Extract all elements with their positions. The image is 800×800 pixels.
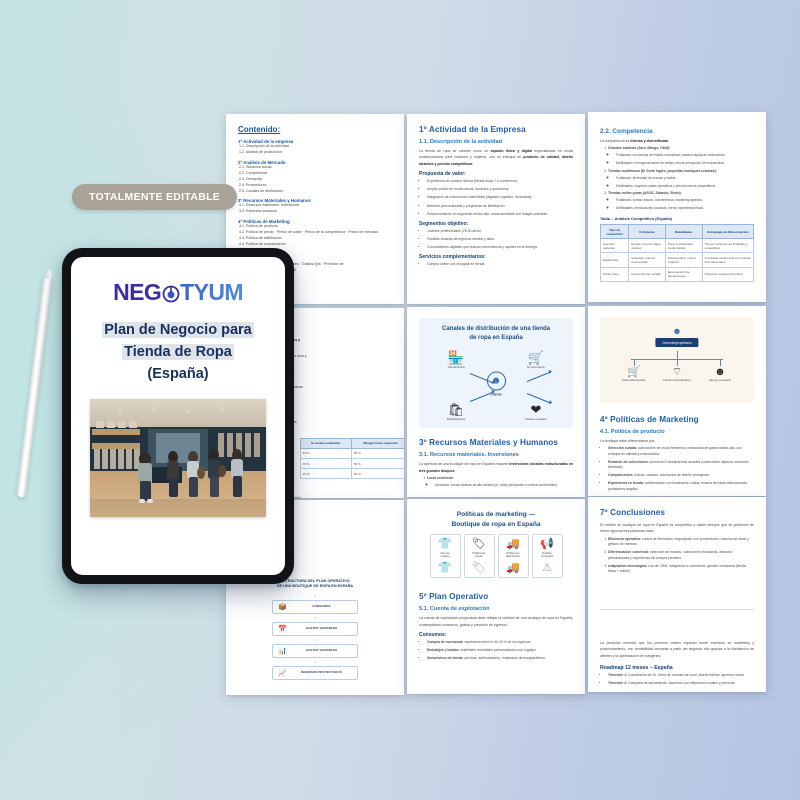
- infographic-title: Canales de distribución de una tiendade …: [424, 325, 568, 342]
- infographic-title: Políticas de marketing —Boutique de ropa…: [419, 510, 573, 529]
- table-cell: 55 %: [351, 459, 404, 469]
- org-node-visual-merchandiser: ⌔ Visual merchandiser: [654, 360, 700, 383]
- lead-paragraph: El modelo de boutique de ropa en España …: [600, 522, 754, 535]
- heart-social-icon: ❤: [516, 403, 556, 416]
- list-item: Tiendas online puras (ASOS, Zalando, She…: [608, 191, 754, 211]
- column-header: Estrategia de diferenciación: [702, 225, 753, 239]
- price-tag-icon: 🏷: [466, 538, 493, 551]
- subsection-heading: Segmentos objetivo:: [419, 221, 573, 227]
- table-cell: Multimarca: [601, 253, 629, 267]
- tablet-device-mockup[interactable]: NEG TYUM Plan de Negocio para Tienda de …: [62, 248, 294, 584]
- warning-icon: ⚠: [534, 562, 561, 575]
- column-header: Tipo de competidor: [601, 225, 629, 239]
- megaphone-icon: 📢: [534, 538, 561, 551]
- cover-photo: [90, 399, 266, 517]
- flow-step-gastos-variables-2: 📊 GASTOS VARIABLES: [272, 644, 358, 658]
- truck-icon: 🚚: [500, 538, 527, 551]
- list-item: Trimestre 2: Campaña de lanzamiento, acu…: [608, 681, 754, 686]
- page-actividad-empresa[interactable]: 1º Actividad de la Empresa 1.1. Descripc…: [407, 114, 585, 304]
- list-item: Fortalezas: diversidad de marcas y estil…: [616, 176, 754, 181]
- channel-node-marketplaces: 🛍 Marketplaces: [436, 403, 476, 422]
- tshirt-icon: 👕: [432, 538, 459, 551]
- arrow-down-icon: ↓: [238, 594, 392, 599]
- section-heading: 3.1. Recursos materiales. Inversiones: [419, 452, 573, 458]
- toc-item: 2.5. Canales de distribución: [238, 189, 392, 195]
- list-item: Amplio surtido en moda casual, business …: [427, 187, 573, 192]
- table-header-row: % ventas estimadas Margen bruto esperado: [300, 438, 404, 448]
- competitor-groups: Grandes cadenas (Zara, Mango, H&M): Fort…: [608, 146, 754, 211]
- list-item: Familias urbanas de ingresos medios y al…: [427, 237, 573, 242]
- table-cell: Poca exclusividad, moda rápida: [665, 239, 702, 253]
- list-item: Embalajes y bolsas: materiales reciclabl…: [427, 648, 573, 653]
- toc-item: 1.2. Análisis de producción: [238, 150, 392, 156]
- channel-node-tienda-fisica: 🏪 Tienda física: [436, 351, 476, 370]
- logo-text-primary: NEG: [113, 281, 161, 304]
- subsection-heading: Consumos:: [419, 632, 573, 638]
- shopping-cart-icon: 🛒: [611, 366, 657, 378]
- person-icon: ☻: [697, 366, 743, 378]
- toc-section-4: 4º Políticas de Marketing 4.1. Política …: [238, 219, 392, 248]
- toc-item: 3.2. Recursos humanos: [238, 209, 392, 215]
- table-header-row: Tipo de competidor Fortalezas Debilidade…: [601, 225, 754, 239]
- lead-paragraph: La boutique debe diferenciarse por:: [600, 438, 754, 444]
- shopping-bag-icon: 🛍: [436, 403, 476, 416]
- arrow-down-icon: ↓: [238, 616, 392, 621]
- column-header: % ventas estimadas: [300, 438, 351, 448]
- margins-table: % ventas estimadas Margen bruto esperado…: [300, 438, 404, 480]
- org-node-dependientes: 🛒 Dependientes/as: [611, 360, 657, 383]
- lead-paragraph: La cuenta de explotación proyectada debe…: [419, 615, 573, 628]
- resource-list: Local comercial Ubicación: zonas urbanas…: [427, 476, 573, 488]
- table-cell: Precios altos, menor rotación: [665, 253, 702, 267]
- person-icon: ☻: [672, 326, 681, 336]
- subsection-heading: Servicios complementarios:: [419, 254, 573, 260]
- column-header: Debilidades: [665, 225, 702, 239]
- table-cell: Grandes cadenas: [601, 239, 629, 253]
- table-cell: 45 %: [300, 448, 351, 458]
- logo-text-secondary: TYUM: [180, 281, 243, 304]
- table-cell: Combinar moda local con marcas internaci…: [702, 253, 753, 267]
- cover-title: Plan de Negocio para Tienda de Ropa (Esp…: [102, 320, 253, 385]
- policy-card-comunicacion[interactable]: 📢 Políticacomunica ⚠: [532, 534, 563, 578]
- table-cell: Variedad, marcas reconocidas: [629, 253, 666, 267]
- consumos-list: Compra de mercancía: representa entre el…: [427, 640, 573, 662]
- hub-diagram: 🏪 Tienda física 🛒 E-commerce 🛍 Marketpla…: [424, 347, 568, 421]
- lead-paragraph: La competencia es intensa y diversificad…: [600, 138, 754, 144]
- tablet-screen: NEG TYUM Plan de Negocio para Tienda de …: [71, 257, 285, 575]
- hub-center-cliente: ☻ Cliente: [475, 372, 517, 397]
- complementary-services-list: Compra online con recogida en tienda.: [427, 262, 573, 267]
- policy-card-producto[interactable]: 👕 ítica deroducto 👕: [430, 534, 461, 578]
- page-title: 2.2. Competencia: [600, 128, 754, 135]
- price-tag-icon: 🏷: [466, 562, 493, 575]
- org-node-apoyo-eventual: ☻ Apoyo eventual: [697, 360, 743, 383]
- list-item: Selección curada: colecciones de moda fe…: [608, 446, 754, 457]
- trend-up-icon: 📈: [278, 670, 287, 677]
- table-cell: Experiencia fría, devoluciones: [665, 267, 702, 281]
- intro-paragraph: La tienda de ropa se concibe como un esp…: [419, 148, 573, 167]
- policy-cards-row: 👕 ítica deroducto 👕 🏷 Política deprecio …: [419, 534, 573, 578]
- flow-step-consumos: 📦 CONSUMOS: [272, 600, 358, 614]
- list-item: Debilidades: mayores costes operativos y…: [616, 184, 754, 189]
- target-segments-list: Jóvenes profesionales (25-40 años). Fami…: [427, 229, 573, 251]
- table-cell: Online puro: [601, 267, 629, 281]
- list-item: Complementos: bolsos, calzado, accesorio…: [608, 473, 754, 478]
- list-item: Tiendas multimarca (El Corte Inglés, peq…: [608, 169, 754, 189]
- table-cell: 60 %: [351, 469, 404, 479]
- forecast-paragraph: La previsión muestra que los primeros me…: [600, 640, 754, 659]
- table-row: Multimarca Variedad, marcas reconocidas …: [601, 253, 754, 267]
- product-policy-list: Selección curada: colecciones de moda fe…: [608, 446, 754, 492]
- page-title: Contenido:: [238, 125, 392, 134]
- toc-section-2: 2º Análisis de Mercado 2.1. Situación ac…: [238, 160, 392, 195]
- channel-node-redes-sociales: ❤ Redes sociales: [516, 403, 556, 422]
- toc-section-1: 1º Actividad de la empresa 1.1. Descripc…: [238, 139, 392, 156]
- distribution-channels-infographic: Canales de distribución de una tiendade …: [419, 318, 573, 428]
- toc-section-3: 3º Recursos Materiales y Humanos 3.1. Re…: [238, 198, 392, 215]
- page-title: 4º Políticas de Marketing: [600, 415, 754, 424]
- table-row: 35 % 55 %: [300, 459, 404, 469]
- list-item: Consumidores digitales que buscan conven…: [427, 245, 573, 250]
- table-row: Online puro Conveniencia, surtido Experi…: [601, 267, 754, 281]
- lead-paragraph: La apertura de una boutique de ropa en E…: [419, 461, 573, 474]
- list-item: Fortalezas: surtido masivo, conveniencia…: [616, 198, 754, 203]
- hanger-icon: ⌔: [654, 366, 700, 378]
- list-item: Posicionamiento en segmento medio-alto: …: [427, 212, 573, 217]
- list-item: Atención personalizada y programas de fi…: [427, 204, 573, 209]
- policy-card-precio[interactable]: 🏷 Política deprecio 🏷: [464, 534, 495, 578]
- list-item: Debilidades: homogeneización de estilos,…: [616, 161, 754, 166]
- org-chart: ☻ Gerente/propietario 🛒 Dependientes/as …: [605, 324, 749, 396]
- policy-card-distribucion[interactable]: 🚚 Política dedistribución 🚚: [498, 534, 529, 578]
- column-header: Margen bruto esperado: [351, 438, 404, 448]
- list-item: Jóvenes profesionales (25-40 años).: [427, 229, 573, 234]
- table-row: 45 % 58 %: [300, 448, 404, 458]
- person-icon: ☻: [487, 372, 506, 391]
- page-canales-distribucion[interactable]: Canales de distribución de una tiendade …: [407, 307, 585, 497]
- laptop-cart-icon: 🛒: [516, 351, 556, 364]
- table-row: 15 % 60 %: [300, 469, 404, 479]
- page-politicas-marketing-plan-operativo[interactable]: Políticas de marketing —Boutique de ropa…: [407, 499, 585, 694]
- calendar-icon: 📅: [278, 626, 287, 633]
- operational-plan-flowchart: ESTRUCTURA DEL PLAN OPERATIVODE UNA BOUT…: [238, 579, 392, 680]
- section-heading: 1.1. Descripción de la actividad: [419, 139, 573, 145]
- table-cell: 35 %: [300, 459, 351, 469]
- box-icon: 📦: [278, 604, 287, 611]
- list-item: Experiencia en tienda: ambientación con …: [608, 481, 754, 492]
- competitive-analysis-table: Tipo de competidor Fortalezas Debilidade…: [600, 224, 754, 282]
- roadmap-list: Trimestre 1: Constitución de SL, firma d…: [608, 673, 754, 686]
- value-proposition-list: Experiencia de compra híbrida (tienda fí…: [427, 179, 573, 217]
- totalmente-editable-badge: TOTALMENTE EDITABLE: [72, 184, 237, 210]
- table-cell: 15 %: [300, 469, 351, 479]
- table-cell: Potenciar experiencia física: [702, 267, 753, 281]
- column-header: Fortalezas: [629, 225, 666, 239]
- flow-step-ingresos-proyectados: 📈 INGRESOS PROYECTADOS: [272, 666, 358, 680]
- flow-step-gastos-variables-1: 📅 GASTOS VARIABLES: [272, 622, 358, 636]
- table-row: Grandes cadenas Escala, precios bajos, r…: [601, 239, 754, 253]
- list-item: Grandes cadenas (Zara, Mango, H&M): Fort…: [608, 146, 754, 166]
- list-item: Experiencia de compra híbrida (tienda fí…: [427, 179, 573, 184]
- org-chart-infographic: ☻ Gerente/propietario 🛒 Dependientes/as …: [600, 317, 754, 403]
- storefront-icon: 🏪: [436, 351, 476, 364]
- arrow-down-icon: ↓: [238, 660, 392, 665]
- roadmap-heading: Roadmap 12 meses – España: [600, 665, 754, 671]
- chart-icon: 📊: [278, 648, 287, 655]
- table-cell: Conveniencia, surtido: [629, 267, 666, 281]
- negotyum-logo: NEG TYUM: [113, 281, 243, 304]
- subsection-heading: Propuesta de valor:: [419, 171, 573, 177]
- tshirt-icon: 👕: [432, 562, 459, 575]
- list-item: Compra online con recogida en tienda.: [427, 262, 573, 267]
- list-item: Diferenciación comercial: selección de m…: [608, 550, 754, 561]
- conclusions-list: Eficiencia operativa: control de inventa…: [608, 537, 754, 575]
- list-item: Compra de mercancía: representa entre el…: [427, 640, 573, 645]
- table-cell: Ofrecer colecciones limitadas y sostenib…: [702, 239, 753, 253]
- channel-node-ecommerce: 🛒 E-commerce: [516, 351, 556, 370]
- list-item: Eficiencia operativa: control de inventa…: [608, 537, 754, 548]
- page-competencia[interactable]: 2.2. Competencia La competencia es inten…: [588, 112, 766, 302]
- marketing-policies-infographic: Políticas de marketing —Boutique de ropa…: [419, 510, 573, 578]
- table-cell: 58 %: [351, 448, 404, 458]
- page-title: 5º Plan Operativo: [419, 592, 573, 601]
- table-caption: Tabla – Análisis Competitivo (España): [600, 216, 754, 221]
- list-item: Ubicación: zonas urbanas de alto tránsit…: [435, 483, 573, 488]
- arrow-down-icon: ↓: [238, 638, 392, 643]
- page-title: 1º Actividad de la Empresa: [419, 125, 573, 134]
- page-conclusiones[interactable]: 7º Conclusiones El modelo de boutique de…: [588, 497, 766, 692]
- org-node-boss: Gerente/propietario: [655, 338, 698, 347]
- list-item: Suministros de tienda: perchas, antihurt…: [427, 656, 573, 661]
- list-item: Local comercial Ubicación: zonas urbanas…: [427, 476, 573, 488]
- list-item: Debilidades: devoluciones costosas, meno…: [616, 206, 754, 211]
- page-organigrama-marketing[interactable]: ☻ Gerente/propietario 🛒 Dependientes/as …: [588, 306, 766, 496]
- table-cell: Escala, precios bajos, rapidez: [629, 239, 666, 253]
- truck-icon: 🚚: [500, 562, 527, 575]
- section-heading: 5.1. Cuenta de explotación: [419, 606, 573, 612]
- list-item: Integración de colecciones sostenibles (…: [427, 195, 573, 200]
- list-item: Rotación de colecciones: al menos 6 lanz…: [608, 460, 754, 471]
- target-o-mark-icon: [162, 284, 180, 302]
- list-item: Adaptación tecnológica: uso de CRM, inte…: [608, 564, 754, 575]
- list-item: Trimestre 1: Constitución de SL, firma d…: [608, 673, 754, 678]
- page-title: 3º Recursos Materiales y Humanos: [419, 438, 573, 447]
- page-title: 7º Conclusiones: [600, 508, 754, 517]
- list-item: Fortalezas: economías de escala, notorie…: [616, 153, 754, 158]
- section-heading: 4.1. Política de producto: [600, 429, 754, 435]
